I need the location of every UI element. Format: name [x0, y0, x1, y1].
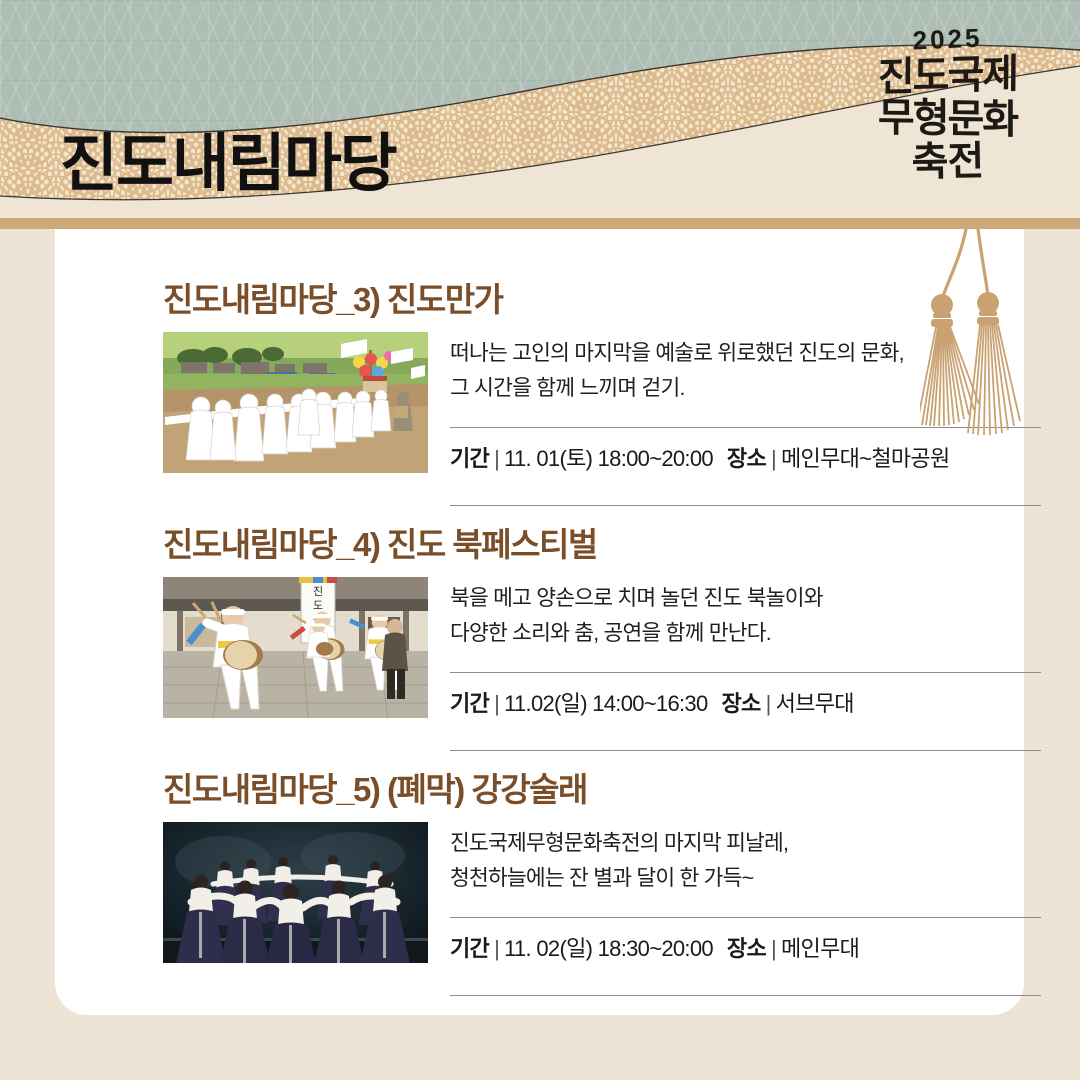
logo-line-3: 축전 — [860, 140, 1036, 183]
place-value: 메인무대 — [781, 931, 859, 963]
period-value: 11. 02(일) 18:30~20:00 — [504, 931, 713, 963]
program-section: 진도내림마당_5) (폐막) 강강술래 — [163, 763, 1041, 996]
svg-text:진: 진 — [313, 585, 323, 598]
place-value: 서브무대 — [776, 686, 854, 718]
place-value: 메인무대~철마공원 — [781, 441, 949, 473]
page-title: 진도내림마당 — [60, 113, 396, 204]
jindo-buk-festival-drummers-photo: 진도 북놀 — [163, 577, 428, 718]
period-value: 11. 01(토) 18:00~20:00 — [504, 441, 713, 473]
program-meta: 기간 | 11. 02(일) 18:30~20:00 장소 | 메인무대 — [450, 918, 1041, 974]
logo-year: 2025 — [860, 22, 1036, 56]
program-title: 진도내림마당_4) 진도 북페스티벌 — [163, 518, 1041, 566]
place-label: 장소 — [727, 441, 766, 473]
period-label: 기간 — [450, 931, 489, 963]
meta-separator-2: | — [766, 691, 771, 717]
program-section: 진도내림마당_3) 진도만가 — [163, 273, 1041, 506]
jindo-manga-funeral-procession-photo — [163, 332, 428, 473]
program-title: 진도내림마당_5) (폐막) 강강술래 — [163, 763, 1041, 811]
place-label: 장소 — [727, 931, 766, 963]
period-value: 11.02(일) 14:00~16:30 — [504, 686, 707, 718]
norigae-tassel-ornament — [920, 229, 1050, 444]
header-divider-bar — [0, 218, 1080, 229]
program-meta: 기간 | 11.02(일) 14:00~16:30 장소 | 서브무대 — [450, 673, 1041, 729]
divider-rule-bottom — [450, 750, 1041, 751]
program-section: 진도내림마당_4) 진도 북페스티벌 — [163, 518, 1041, 751]
meta-separator-1: | — [494, 936, 499, 962]
divider-rule-bottom — [450, 505, 1041, 506]
festival-logo: 2025 진도국제 무형문화 축전 — [860, 26, 1035, 182]
program-title: 진도내림마당_3) 진도만가 — [163, 273, 1041, 321]
period-label: 기간 — [450, 441, 489, 473]
place-label: 장소 — [722, 686, 761, 718]
meta-separator-1: | — [494, 691, 499, 717]
meta-separator-1: | — [494, 446, 499, 472]
period-label: 기간 — [450, 686, 489, 718]
content-card: 진도내림마당_3) 진도만가 — [55, 229, 1024, 1015]
meta-separator-2: | — [771, 446, 776, 472]
meta-separator-2: | — [771, 936, 776, 962]
logo-line-1: 진도국제 — [860, 54, 1035, 99]
divider-rule-bottom — [450, 995, 1041, 996]
program-description-line-1: 북을 메고 양손으로 치며 놀던 진도 북놀이와 — [450, 581, 1041, 616]
svg-text:도: 도 — [313, 600, 323, 612]
program-description-line-1: 진도국제무형문화축전의 마지막 피날레, — [450, 826, 1041, 861]
program-description-line-2: 다양한 소리와 춤, 공연을 함께 만난다. — [450, 616, 1041, 651]
program-description-line-2: 청천하늘에는 잔 별과 달이 한 가득~ — [450, 861, 1041, 896]
logo-line-2: 무형문화 — [860, 97, 1035, 140]
page-header: 진도내림마당 2025 진도국제 무형문화 축전 — [0, 0, 1080, 218]
ganggangsullae-circle-dance-photo — [163, 822, 428, 963]
